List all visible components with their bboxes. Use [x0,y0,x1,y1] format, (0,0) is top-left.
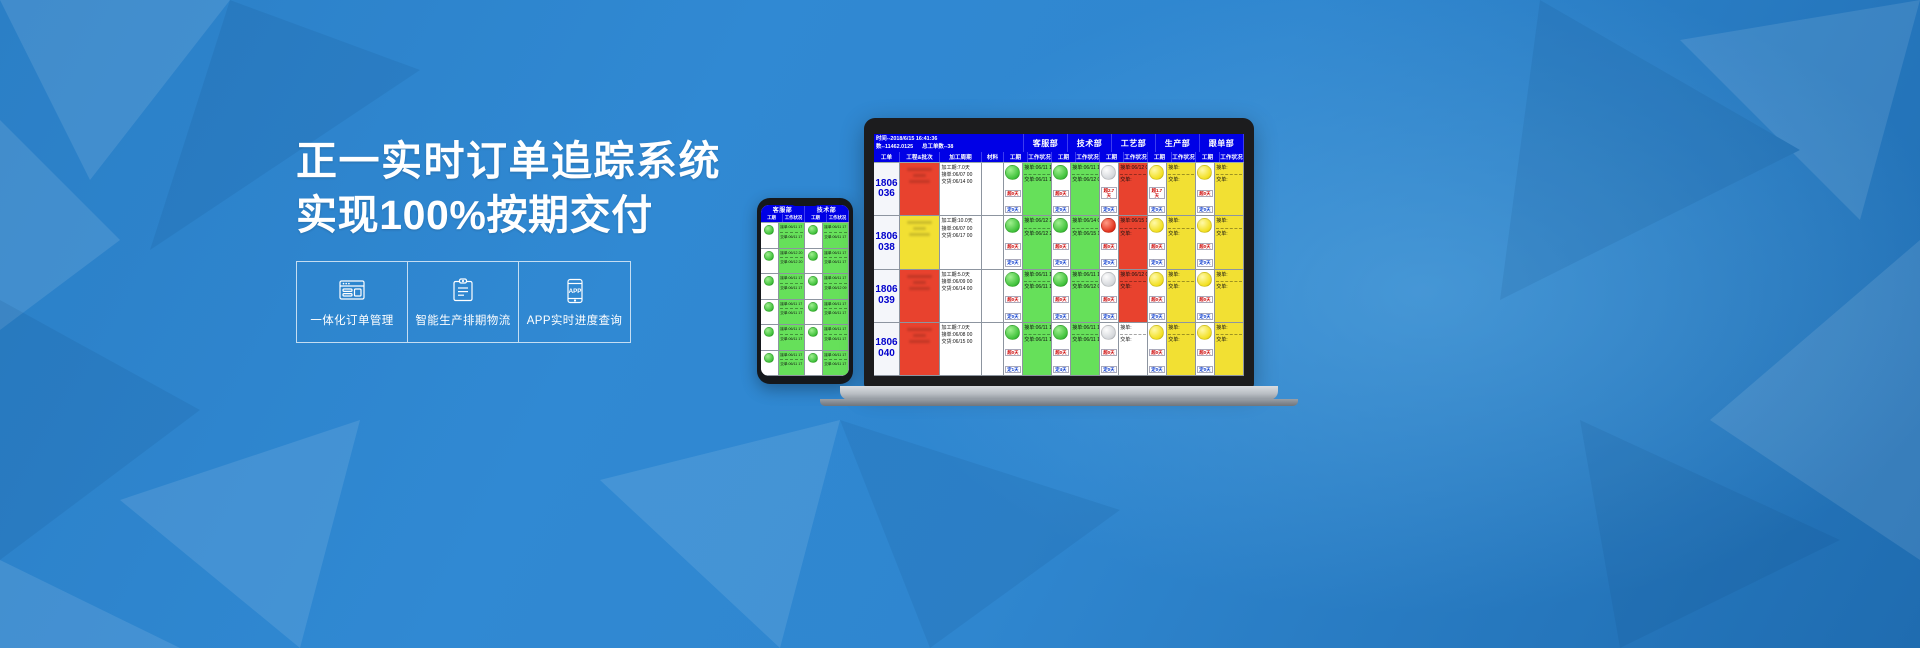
dashboard-info-block: 时间--2018/6/15 16:41:36 数--11462.0125 总工单… [874,134,1024,152]
status-dot-yellow [1149,272,1164,287]
tag-overdue: 超0天 [1101,243,1117,250]
cell-work-status: 接单:交单: [1215,216,1244,268]
phone-cell-duration [761,325,779,350]
phone-department-row: 客服部技术部 [761,205,849,214]
cell-processing-cycle: 加工期:7.0天接单:06/07 00交货:06/14 00 [940,163,982,215]
tag-scheduled: 定0天 [1197,259,1213,266]
column-header: 工作状况 [1220,152,1244,162]
cell-work-status: 接单:06/12 20交单:06/12 20 [1023,216,1052,268]
status-dot-green [808,327,818,337]
phone-cell-duration [805,274,823,299]
cell-material [982,270,1004,322]
order-tracking-dashboard: 时间--2018/6/15 16:41:36 数--11462.0125 总工单… [874,134,1244,376]
phone-cell-work-status: 接单:06/11 17交单:06/11 17 [823,325,849,350]
status-received: 接单:06/12 09 [1120,272,1145,279]
department-row: 客服部技术部工艺部生产部跟单部 [1024,134,1244,152]
phone-dashboard-header: 客服部技术部 [761,205,849,214]
phone-department-header: 技术部 [805,205,849,214]
tag-overdue: 超0天 [1101,296,1117,303]
cell-work-status: 接单:06/12 09交单: [1119,270,1148,322]
monitor-order-icon [337,277,367,305]
tag-scheduled: 定0天 [1005,259,1021,266]
tag-overdue: 超0天 [1149,349,1165,356]
cell-work-status: 接单:06/11 17交单:06/11 17 [1023,163,1052,215]
phone-cell-duration [761,274,779,299]
column-header: 加工周期 [940,152,982,162]
phone-column-header: 工期 [761,214,783,222]
tag-overdue: 超0天 [1053,243,1069,250]
phone-cell-duration [805,351,823,376]
tag-scheduled: 定0天 [1149,259,1165,266]
table-row[interactable]: 1806040加工期:7.0天接单:06/08 00交货:06/15 00超0天… [874,323,1244,376]
laptop-screen: 时间--2018/6/15 16:41:36 数--11462.0125 总工单… [874,134,1244,376]
status-delivered: 交单: [1216,337,1241,344]
cell-work-status: 接单:交单: [1167,270,1196,322]
phone-cell-work-status: 接单:06/11 17交单:06/11 17 [823,300,849,325]
department-header: 技术部 [1068,134,1112,152]
phone-department-header: 客服部 [761,205,805,214]
cell-order-number: 1806038 [874,216,900,268]
status-dot-gray [1101,272,1116,287]
cell-duration: 超0天定0天 [1196,270,1215,322]
phone-cell-work-status: 接单:06/11 17交单:06/12 09 [823,274,849,299]
tag-scheduled: 定0天 [1149,366,1165,373]
feature-item-app-progress[interactable]: APP APP实时进度查询 [519,262,630,342]
cell-order-number: 1806039 [874,270,900,322]
cell-duration: 超0天定0天 [1052,163,1071,215]
status-received: 接单: [1216,325,1241,332]
cell-duration: 超0天定0天 [1004,163,1023,215]
cell-duration: 超0天定0天 [1196,216,1215,268]
cell-material [982,323,1004,375]
status-received: 接单: [1216,165,1241,172]
cell-duration: 超0天定0天 [1100,323,1119,375]
column-header-row: 工单工程&批次加工周期材料工期工作状况工期工作状况工期工作状况工期工作状况工期工… [874,152,1244,163]
cell-work-status: 接单:交单: [1215,270,1244,322]
cell-order-number: 1806040 [874,323,900,375]
tag-scheduled: 定0天 [1053,206,1069,213]
phone-cell-duration [761,223,779,248]
phone-column-header: 工期 [805,214,827,222]
status-dot-green [1005,165,1020,180]
cell-work-status: 接单:06/11 17交单:06/11 17 [1071,323,1100,375]
tag-scheduled: 定0天 [1053,313,1069,320]
status-dot-green [764,327,774,337]
phone-column-header: 工作状况 [827,214,849,222]
tag-overdue: 超0天 [1005,190,1021,197]
polygon-decor-bottomcenter [600,420,1120,648]
tag-scheduled: 定0天 [1197,313,1213,320]
tag-scheduled: 定0天 [1005,313,1021,320]
polygon-decor-right [1380,0,1920,648]
status-dot-green [808,225,818,235]
phone-cell-work-status: 接单:06/11 17交单:06/11 17 [779,300,805,325]
phone-cell-duration [805,249,823,274]
feature-label: 智能生产排期物流 [415,312,510,328]
cell-duration: 超0天定0天 [1004,216,1023,268]
status-received: 接单:06/11 17 [1024,272,1049,279]
cell-work-status: 接单:交单: [1167,323,1196,375]
cell-order-number: 1806036 [874,163,900,215]
cell-work-status: 接单:交单: [1215,323,1244,375]
phone-cell-duration [805,223,823,248]
phone-table-row[interactable]: 接单:06/11 17交单:06/11 17接单:06/11 17交单:06/1… [761,274,849,300]
column-header: 工期 [1004,152,1028,162]
feature-list: 一体化订单管理 智能生产排期物流 [296,261,631,343]
status-dot-yellow [1197,165,1212,180]
status-received: 接单:06/11 17 [1072,325,1097,332]
department-header: 跟单部 [1200,134,1244,152]
status-dot-yellow [1149,165,1164,180]
cell-project-batch [900,163,940,215]
cell-duration: 超2.7天定0天 [1100,163,1119,215]
status-delivered: 交单:06/11 17 [1024,337,1049,344]
column-header: 工作状况 [1172,152,1196,162]
cell-work-status: 接单:06/11 17交单:06/11 17 [1023,270,1052,322]
status-dot-green [764,276,774,286]
tag-scheduled: 定4天 [1053,366,1069,373]
tag-scheduled: 定0天 [1197,366,1213,373]
status-delivered: 交单: [1168,177,1193,184]
phone-cell-work-status: 接单:06/11 17交单:06/11 17 [779,223,805,248]
phone-cell-duration [761,300,779,325]
tag-scheduled: 定0天 [1149,313,1165,320]
banner-text-block: 正一实时订单追踪系统 实现100%按期交付 [296,134,716,242]
tag-overdue: 超0天 [1053,296,1069,303]
cell-duration: 超0天定0天 [1052,216,1071,268]
clipboard-schedule-icon [448,277,478,305]
column-header: 工作状况 [1028,152,1052,162]
status-dot-gray [1101,165,1116,180]
dashboard-number: 数--11462.0125 [876,143,913,151]
promo-banner: 正一实时订单追踪系统 实现100%按期交付 一体化订单管理 [0,0,1920,648]
status-dot-green [808,353,818,363]
column-header: 工单 [874,152,900,162]
headline-line-2: 实现100%按期交付 [296,188,716,242]
cell-duration: 超0天定0天 [1004,270,1023,322]
cell-work-status: 接单:06/11 17交单:06/12 09 [1071,270,1100,322]
status-dot-yellow [1197,272,1212,287]
status-dot-yellow [1149,325,1164,340]
phone-cell-work-status: 接单:06/11 17交单:06/11 17 [779,274,805,299]
tag-overdue: 超0天 [1005,349,1021,356]
cell-duration: 超0天定0天 [1148,323,1167,375]
phone-table-row[interactable]: 接单:06/11 17交单:06/11 17接单:06/11 17交单:06/1… [761,351,849,377]
status-received: 接单:06/11 17 [1072,272,1097,279]
laptop-mockup: 时间--2018/6/15 16:41:36 数--11462.0125 总工单… [864,118,1284,413]
tag-scheduled: 定0天 [1197,206,1213,213]
cell-material [982,163,1004,215]
phone-table-row[interactable]: 接单:06/11 17交单:06/11 17接单:06/11 17交单:06/1… [761,223,849,249]
cell-project-batch [900,270,940,322]
status-delivered: 交单: [1120,231,1145,238]
status-received: 接单: [1120,325,1145,332]
tag-overdue: 超0天 [1101,349,1117,356]
tag-overdue: 超0天 [1005,296,1021,303]
feature-label: APP实时进度查询 [527,312,623,328]
phone-cell-work-status: 接单:06/11 17交单:06/11 17 [779,325,805,350]
cell-duration: 超0天定0天 [1100,216,1119,268]
cell-work-status: 接单:06/15 16交单: [1119,216,1148,268]
laptop-base [840,386,1278,400]
status-delivered: 交单:06/11 17 [1024,284,1049,291]
polygon-decor-bottomleft [0,300,520,648]
cell-duration: 超1.7天定0天 [1148,163,1167,215]
tag-scheduled: 定0天 [1101,259,1117,266]
department-header: 生产部 [1156,134,1200,152]
cell-work-status: 接单:06/11 17交单:06/11 17 [1023,323,1052,375]
tag-overdue: 超0天 [1053,349,1069,356]
tag-overdue: 超0天 [1149,296,1165,303]
mobile-app-icon: APP [560,277,590,305]
column-header: 工期 [1196,152,1220,162]
tag-overdue: 超1.7天 [1149,187,1165,200]
status-dot-green [808,276,818,286]
cell-work-status: 接单:06/14 08交单:06/15 16 [1071,216,1100,268]
phone-table-row[interactable]: 接单:06/11 17交单:06/11 17接单:06/11 17交单:06/1… [761,325,849,351]
status-dot-green [1005,272,1020,287]
status-dot-green [764,251,774,261]
laptop-foot [820,399,1298,406]
status-dot-yellow [1149,218,1164,233]
status-delivered: 交单: [1120,284,1145,291]
phone-table-row[interactable]: 接单:06/12 20交单:06/12 20接单:06/11 17交单:06/1… [761,249,849,275]
phone-cell-work-status: 接单:06/11 17交单:06/11 17 [823,223,849,248]
department-header: 工艺部 [1112,134,1156,152]
status-dot-red [1101,218,1116,233]
status-dot-green [764,353,774,363]
status-dot-green [1053,218,1068,233]
tag-overdue: 超0天 [1197,243,1213,250]
tag-overdue: 超0天 [1197,296,1213,303]
dashboard-time: 时间--2018/6/15 16:41:36 [876,135,1021,143]
feature-item-order-management[interactable]: 一体化订单管理 [297,262,408,342]
feature-item-production-schedule[interactable]: 智能生产排期物流 [408,262,519,342]
column-header: 工作状况 [1076,152,1100,162]
tag-overdue: 超0天 [1053,190,1069,197]
status-delivered: 交单:06/11 17 [1024,177,1049,184]
tag-overdue: 超2.7天 [1101,187,1117,200]
status-delivered: 交单:06/12 20 [1024,231,1049,238]
svg-text:APP: APP [568,288,581,295]
status-dot-green [808,251,818,261]
cell-duration: 超0天定0天 [1148,216,1167,268]
status-delivered: 交单: [1120,337,1145,344]
column-header: 工程&批次 [900,152,940,162]
status-received: 接单:06/12 09 [1120,165,1145,172]
phone-notch [790,200,820,206]
tag-scheduled: 定0天 [1101,313,1117,320]
phone-screen: 客服部技术部 工期工作状况工期工作状况 接单:06/11 17交单:06/11 … [761,205,849,376]
column-header: 工期 [1100,152,1124,162]
status-received: 接单:06/12 20 [1024,218,1049,225]
cell-processing-cycle: 加工期:7.0天接单:06/08 00交货:06/15 00 [940,323,982,375]
tag-scheduled: 定0天 [1005,206,1021,213]
status-delivered: 交单: [1216,231,1241,238]
status-received: 接单:06/11 17 [1024,165,1049,172]
status-dot-green [808,302,818,312]
tag-scheduled: 定0天 [1053,259,1069,266]
tag-scheduled: 定0天 [1101,366,1117,373]
cell-work-status: 接单:交单: [1119,323,1148,375]
phone-cell-work-status: 接单:06/11 17交单:06/11 17 [823,249,849,274]
table-row[interactable]: 1806038加工期:10.0天接单:06/07 00交货:06/17 00超0… [874,216,1244,269]
tag-overdue: 超0天 [1005,243,1021,250]
status-dot-yellow [1197,218,1212,233]
status-delivered: 交单:06/15 16 [1072,231,1097,238]
tag-overdue: 超0天 [1197,349,1213,356]
status-received: 接单:06/14 08 [1072,218,1097,225]
phone-mockup: 客服部技术部 工期工作状况工期工作状况 接单:06/11 17交单:06/11 … [757,198,853,384]
column-header: 工作状况 [1124,152,1148,162]
status-delivered: 交单: [1216,284,1241,291]
status-dot-green [764,225,774,235]
status-received: 接单: [1168,272,1193,279]
cell-duration: 超0天定0天 [1196,163,1215,215]
status-delivered: 交单: [1120,177,1145,184]
department-header: 客服部 [1024,134,1068,152]
status-delivered: 交单:06/11 17 [1072,337,1097,344]
cell-project-batch [900,216,940,268]
tag-scheduled: 定1天 [1005,366,1021,373]
status-dot-green [1005,218,1020,233]
status-dot-green [1053,325,1068,340]
cell-duration: 超0天定0天 [1196,323,1215,375]
status-dot-green [1005,325,1020,340]
cell-work-status: 接单:06/12 09交单: [1119,163,1148,215]
status-delivered: 交单:06/12 09 [1072,177,1097,184]
dashboard-header: 时间--2018/6/15 16:41:36 数--11462.0125 总工单… [874,134,1244,152]
phone-cell-work-status: 接单:06/11 17交单:06/11 17 [779,351,805,376]
phone-table-row[interactable]: 接单:06/11 17交单:06/11 17接单:06/11 17交单:06/1… [761,300,849,326]
status-received: 接单:06/11 17 [1024,325,1049,332]
cell-duration: 超0天定0天 [1148,270,1167,322]
phone-cell-duration [805,325,823,350]
cell-work-status: 接单:06/11 17交单:06/12 09 [1071,163,1100,215]
phone-cell-work-status: 接单:06/12 20交单:06/12 20 [779,249,805,274]
cell-work-status: 接单:交单: [1167,163,1196,215]
tag-overdue: 超0天 [1197,190,1213,197]
status-received: 接单:06/15 16 [1120,218,1145,225]
status-received: 接单: [1216,272,1241,279]
headline-line-1: 正一实时订单追踪系统 [296,134,716,188]
cell-work-status: 接单:交单: [1167,216,1196,268]
laptop-lid: 时间--2018/6/15 16:41:36 数--11462.0125 总工单… [864,118,1254,388]
status-delivered: 交单: [1168,337,1193,344]
status-delivered: 交单: [1168,231,1193,238]
phone-column-header: 工作状况 [783,214,805,222]
table-row[interactable]: 1806036加工期:7.0天接单:06/07 00交货:06/14 00超0天… [874,163,1244,216]
status-received: 接单:06/11 17 [1072,165,1097,172]
tag-scheduled: 定0天 [1149,206,1165,213]
status-received: 接单: [1168,325,1193,332]
cell-duration: 超0天定1天 [1004,323,1023,375]
phone-dashboard: 客服部技术部 工期工作状况工期工作状况 接单:06/11 17交单:06/11 … [761,205,849,376]
phone-cell-duration [761,351,779,376]
status-dot-green [1053,272,1068,287]
status-dot-yellow [1197,325,1212,340]
cell-processing-cycle: 加工期:10.0天接单:06/07 00交货:06/17 00 [940,216,982,268]
phone-cell-duration [761,249,779,274]
status-delivered: 交单:06/12 09 [1072,284,1097,291]
status-received: 接单: [1216,218,1241,225]
tag-overdue: 超0天 [1149,243,1165,250]
cell-processing-cycle: 加工期:5.0天接单:06/09 00交货:06/14 00 [940,270,982,322]
status-received: 接单: [1168,165,1193,172]
status-dot-green [1053,165,1068,180]
cell-project-batch [900,323,940,375]
cell-duration: 超0天定0天 [1100,270,1119,322]
feature-label: 一体化订单管理 [310,312,393,328]
status-dot-gray [1101,325,1116,340]
dashboard-body: 1806036加工期:7.0天接单:06/07 00交货:06/14 00超0天… [874,163,1244,376]
phone-cell-work-status: 接单:06/11 17交单:06/11 17 [823,351,849,376]
phone-dashboard-body: 接单:06/11 17交单:06/11 17接单:06/11 17交单:06/1… [761,223,849,376]
phone-cell-duration [805,300,823,325]
column-header: 工期 [1148,152,1172,162]
tag-scheduled: 定0天 [1101,206,1117,213]
table-row[interactable]: 1806039加工期:5.0天接单:06/09 00交货:06/14 00超0天… [874,270,1244,323]
dashboard-total-orders: 总工单数--38 [922,143,953,151]
phone-column-header-row: 工期工作状况工期工作状况 [761,214,849,223]
status-delivered: 交单: [1216,177,1241,184]
cell-duration: 超0天定0天 [1052,270,1071,322]
cell-work-status: 接单:交单: [1215,163,1244,215]
cell-material [982,216,1004,268]
column-header: 材料 [982,152,1004,162]
column-header: 工期 [1052,152,1076,162]
status-received: 接单: [1168,218,1193,225]
status-delivered: 交单: [1168,284,1193,291]
cell-duration: 超0天定4天 [1052,323,1071,375]
status-dot-green [764,302,774,312]
